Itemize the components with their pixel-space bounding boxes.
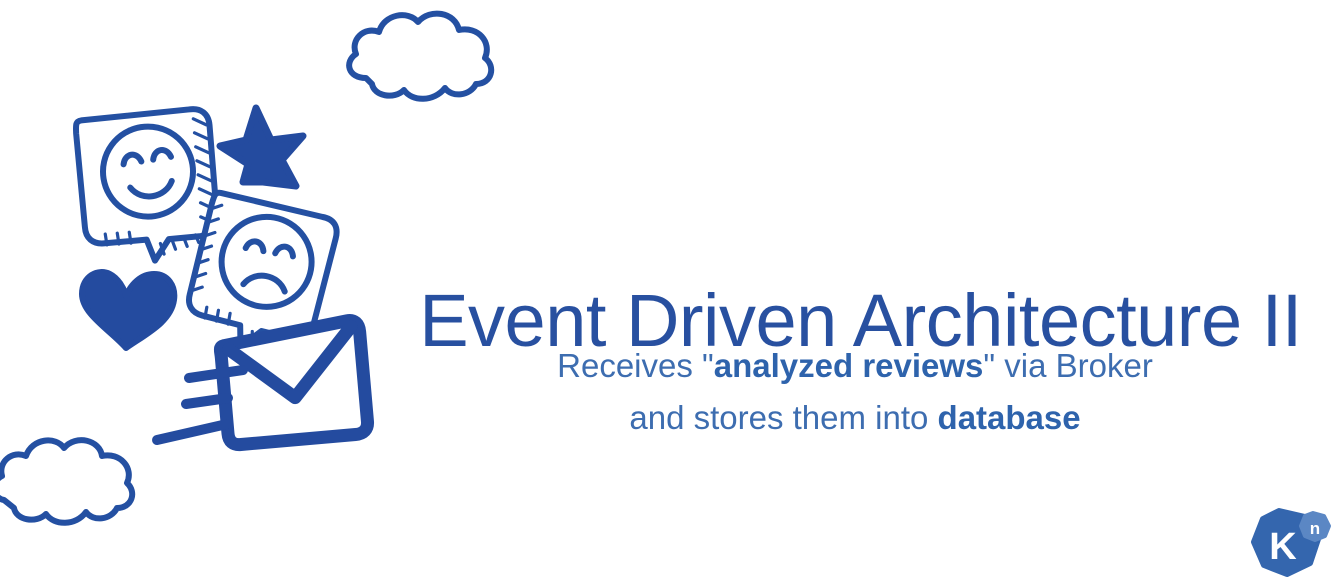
- subtitle-line-1: Receives "analyzed reviews" via Broker: [390, 340, 1320, 392]
- logo-letter-n: n: [1310, 519, 1320, 538]
- slide-root: Event Driven Architecture II Receives "a…: [0, 0, 1341, 585]
- cloud-bottom-left-icon: [0, 440, 132, 523]
- subtitle-line1-prefix: Receives ": [557, 347, 714, 384]
- subtitle: Receives "analyzed reviews" via Broker a…: [390, 340, 1320, 444]
- envelope-icon: [219, 320, 369, 446]
- speed-lines-icon: [157, 370, 243, 440]
- subtitle-line1-suffix: " via Broker: [983, 347, 1152, 384]
- logo-letter-k: K: [1269, 526, 1297, 568]
- review-card-sad-icon: [182, 191, 340, 360]
- subtitle-line2-prefix: and stores them into: [629, 399, 937, 436]
- brand-logo: K n: [1247, 505, 1333, 581]
- brand-logo-svg: K n: [1247, 505, 1333, 581]
- review-card-happy-icon: [68, 101, 229, 271]
- text-block: Event Driven Architecture II Receives "a…: [390, 0, 1341, 585]
- heart-icon: [82, 272, 174, 348]
- subtitle-line1-emphasis: analyzed reviews: [714, 347, 984, 384]
- subtitle-line2-emphasis: database: [938, 399, 1081, 436]
- subtitle-line-2: and stores them into database: [390, 392, 1320, 444]
- star-icon: [220, 108, 303, 186]
